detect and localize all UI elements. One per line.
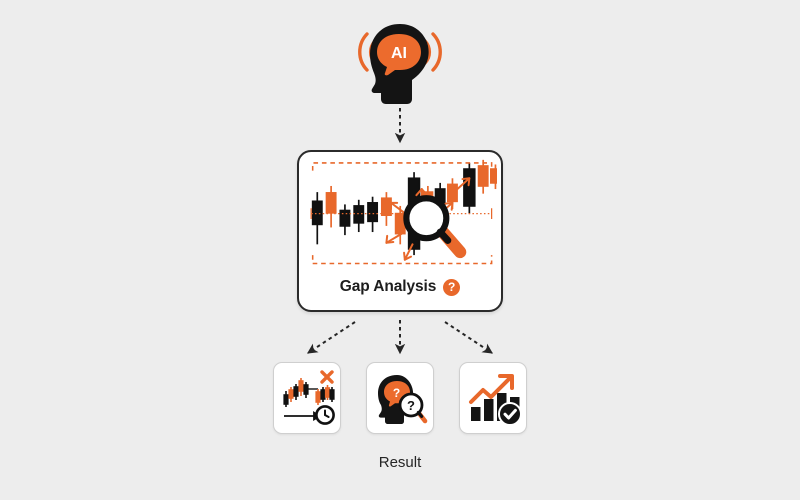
mini-candle-cluster-left: [284, 378, 308, 407]
result-box-missed-opportunity[interactable]: [273, 362, 341, 434]
chart-decline-clock-x-icon: [280, 369, 336, 429]
cross-x-icon: [322, 372, 332, 382]
card-label: Gap Analysis ?: [299, 278, 501, 296]
candle: [464, 163, 475, 214]
mini-candle-cluster-right: [316, 385, 334, 405]
candle: [368, 197, 377, 232]
baseline-arrow: [284, 413, 320, 420]
svg-text:?: ?: [407, 398, 415, 413]
lower-gap-bracket: [313, 255, 492, 263]
head-question-label: ?: [393, 386, 400, 400]
candle-series: [313, 160, 497, 255]
candle: [491, 164, 497, 189]
gap-analysis-card[interactable]: Gap Analysis ?: [297, 150, 503, 312]
ai-head-node: AI: [345, 20, 455, 105]
ai-brain-label: AI: [391, 45, 407, 62]
head-question-magnifier-icon: ? ?: [373, 369, 429, 429]
gap-arrow-upleft: [391, 203, 403, 212]
result-box-verified-growth[interactable]: [459, 362, 527, 434]
clock-icon: [316, 406, 333, 423]
candle: [354, 200, 363, 232]
result-box-unanswered-question[interactable]: ? ?: [366, 362, 434, 434]
candle: [479, 160, 488, 194]
candlestick-chart-icon: [305, 158, 497, 270]
candle: [327, 186, 336, 227]
candle: [340, 204, 349, 235]
growth-bars-check-icon: [466, 369, 522, 429]
connector-card-to-result-3: [445, 322, 492, 353]
check-badge-icon: [499, 403, 521, 425]
ai-brain-head-icon: AI: [345, 20, 455, 105]
candle: [313, 192, 322, 244]
page-title: Gap Analysis: [340, 278, 436, 296]
help-badge[interactable]: ?: [443, 279, 460, 296]
diagram-canvas: AI: [0, 0, 800, 500]
result-caption: Result: [0, 454, 800, 471]
connector-card-to-result-1: [308, 322, 355, 353]
candle: [382, 192, 391, 226]
